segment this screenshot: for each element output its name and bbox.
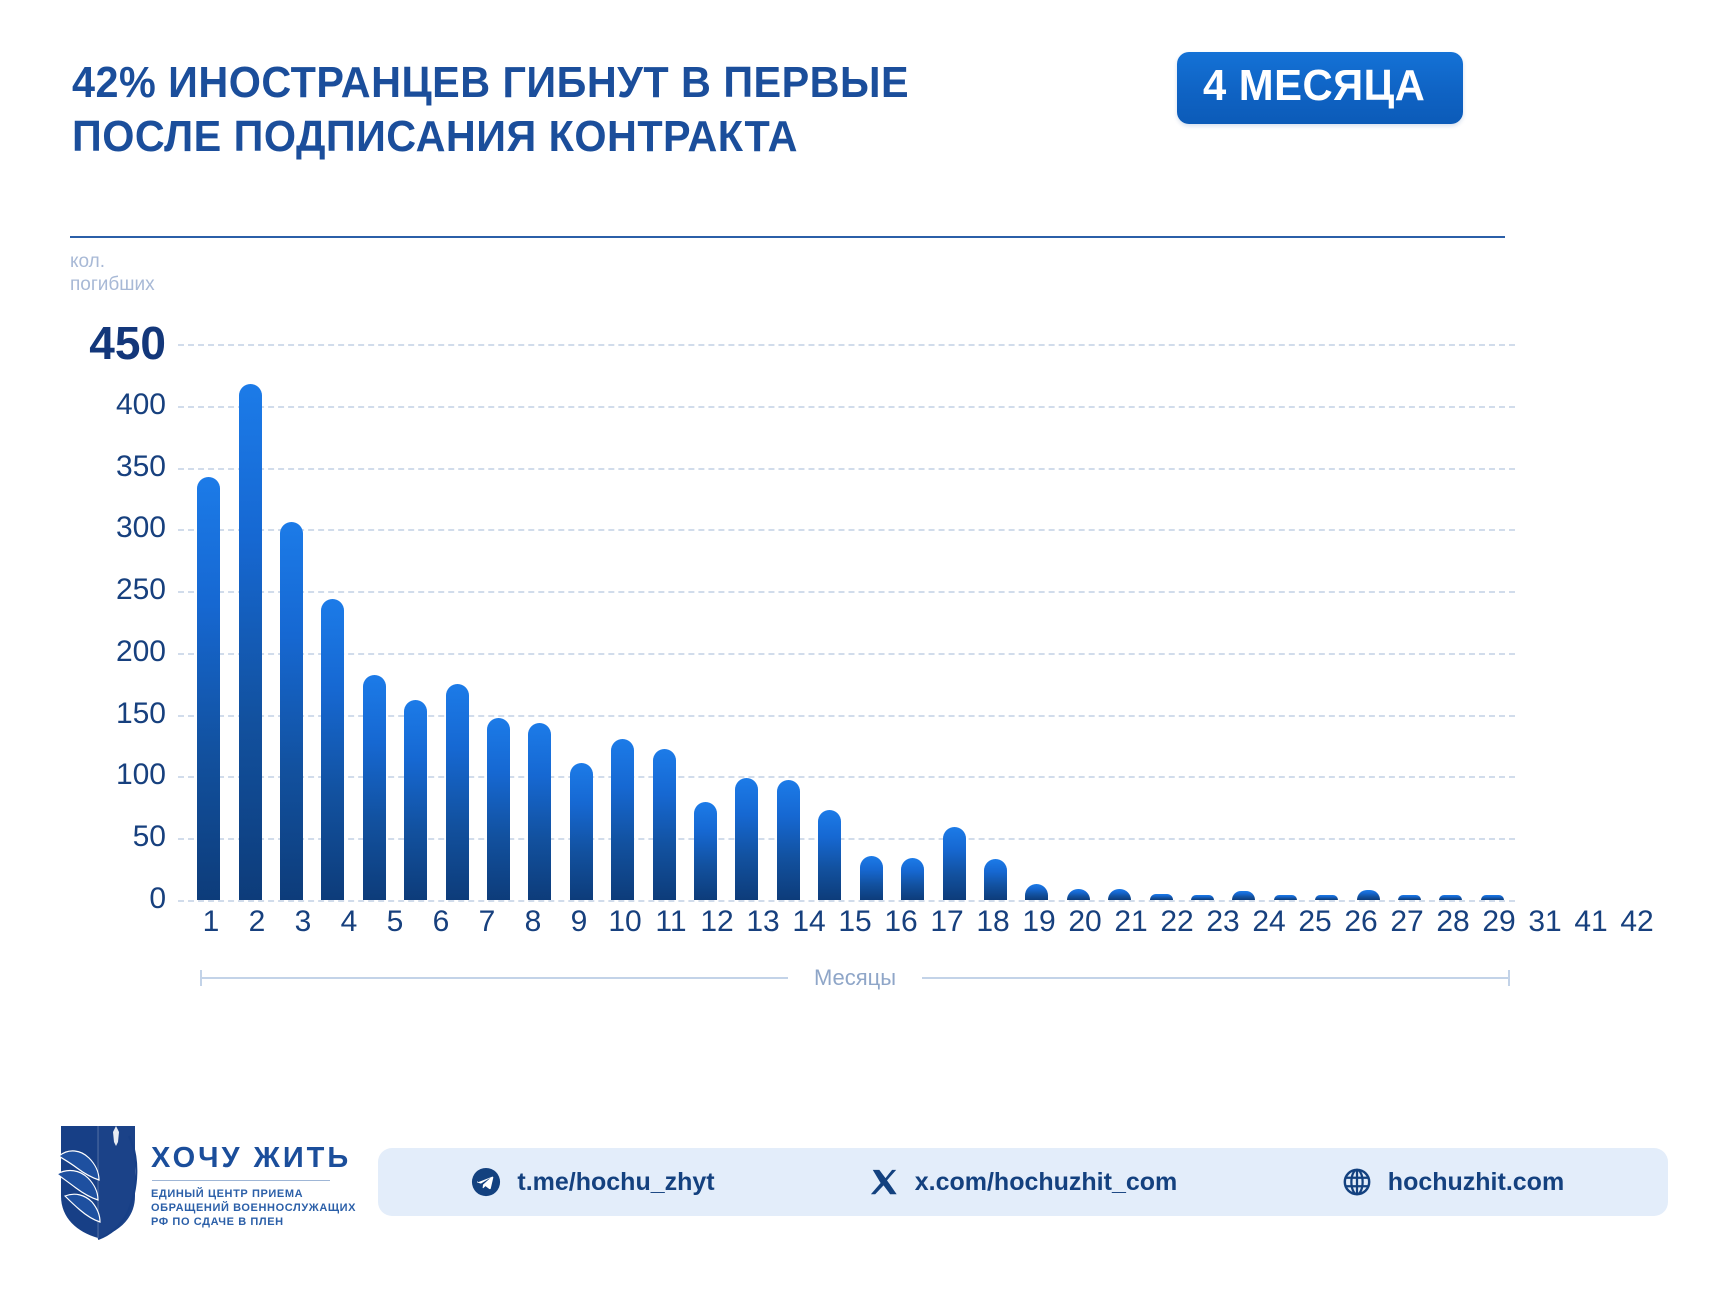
bar-slot	[312, 344, 353, 900]
bar-slot	[602, 344, 643, 900]
x-axis-label-41: 41	[1568, 905, 1614, 939]
bar-month-13	[694, 802, 717, 900]
contact-label: t.me/hochu_zhyt	[517, 1168, 714, 1197]
x-axis-label-5: 5	[372, 905, 418, 939]
x-axis-label-8: 8	[510, 905, 556, 939]
chart-bars	[188, 344, 1513, 900]
bracket-line-right	[922, 977, 1510, 979]
x-axis-label-19: 19	[1016, 905, 1062, 939]
bar-slot	[1430, 344, 1471, 900]
x-axis-label-4: 4	[326, 905, 372, 939]
bar-slot	[643, 344, 684, 900]
bar-slot	[1472, 344, 1513, 900]
contact-item-telegram[interactable]: t.me/hochu_zhyt	[378, 1167, 808, 1197]
bar-month-9	[528, 723, 551, 900]
x-axis-caption: Месяцы	[200, 958, 1510, 998]
x-axis-label-9: 9	[556, 905, 602, 939]
bar-month-27	[1274, 895, 1297, 900]
brand-subtitle-line-1: ЕДИНЫЙ ЦЕНТР ПРИЕМА	[151, 1187, 356, 1201]
x-axis-label-18: 18	[970, 905, 1016, 939]
bar-month-42	[1481, 895, 1504, 900]
bar-month-20	[984, 859, 1007, 900]
bar-slot	[354, 344, 395, 900]
bar-month-1	[197, 477, 220, 900]
x-icon	[869, 1167, 899, 1197]
bar-slot	[1389, 344, 1430, 900]
globe-icon	[1342, 1167, 1372, 1197]
y-axis-tick-250: 250	[70, 573, 166, 607]
bar-slot	[726, 344, 767, 900]
bar-slot	[1306, 344, 1347, 900]
dove-shield-icon	[55, 1122, 141, 1240]
x-axis-label-28: 28	[1430, 905, 1476, 939]
contact-label: x.com/hochuzhit_com	[915, 1168, 1178, 1197]
bar-month-14	[735, 778, 758, 900]
contact-item-x[interactable]: x.com/hochuzhit_com	[808, 1167, 1238, 1197]
y-axis-caption-line-2: погибших	[70, 273, 155, 296]
header: 42% ИНОСТРАНЦЕВ ГИБНУТ В ПЕРВЫЕ ПОСЛЕ ПО…	[72, 56, 1672, 186]
bar-month-16	[818, 810, 841, 900]
brand-logo-text: ХОЧУ ЖИТЬ ЕДИНЫЙ ЦЕНТР ПРИЕМА ОБРАЩЕНИЙ …	[151, 1142, 356, 1229]
bar-slot	[1265, 344, 1306, 900]
y-axis-tick-150: 150	[70, 697, 166, 731]
brand-divider	[152, 1180, 330, 1181]
bar-month-29	[1357, 890, 1380, 900]
bar-month-31	[1398, 895, 1421, 900]
contact-bar: t.me/hochu_zhytx.com/hochuzhit_comhochuz…	[378, 1148, 1668, 1216]
x-axis-label-31: 31	[1522, 905, 1568, 939]
x-axis-label-11: 11	[648, 905, 694, 939]
bar-slot	[1058, 344, 1099, 900]
x-axis-label-1: 1	[188, 905, 234, 939]
x-axis-label-21: 21	[1108, 905, 1154, 939]
bar-slot	[478, 344, 519, 900]
bar-slot	[395, 344, 436, 900]
x-axis-label-26: 26	[1338, 905, 1384, 939]
bar-slot	[1140, 344, 1181, 900]
brand-subtitle-line-3: РФ ПО СДАЧЕ В ПЛЕН	[151, 1215, 356, 1229]
y-axis-tick-200: 200	[70, 635, 166, 669]
bar-slot	[1016, 344, 1057, 900]
x-axis-label-27: 27	[1384, 905, 1430, 939]
y-axis-caption-line-1: кол.	[70, 250, 155, 273]
y-axis-tick-350: 350	[70, 450, 166, 484]
x-axis-label-16: 16	[878, 905, 924, 939]
y-axis-tick-400: 400	[70, 388, 166, 422]
bar-month-2	[239, 384, 262, 900]
x-axis-label-20: 20	[1062, 905, 1108, 939]
x-axis-label-13: 13	[740, 905, 786, 939]
brand-logo: ХОЧУ ЖИТЬ ЕДИНЫЙ ЦЕНТР ПРИЕМА ОБРАЩЕНИЙ …	[55, 1122, 355, 1242]
y-axis-caption: кол. погибших	[70, 250, 155, 296]
y-axis-tick-50: 50	[70, 820, 166, 854]
bar-month-18	[901, 858, 924, 900]
x-axis-labels: 1234567891011121314151617181920212223242…	[188, 905, 1660, 939]
x-axis-label-29: 29	[1476, 905, 1522, 939]
contact-label: hochuzhit.com	[1388, 1168, 1564, 1197]
bar-slot	[561, 344, 602, 900]
bar-month-24	[1150, 894, 1173, 900]
bar-slot	[436, 344, 477, 900]
bar-month-19	[943, 827, 966, 900]
x-axis-label-17: 17	[924, 905, 970, 939]
bar-month-25	[1191, 895, 1214, 900]
x-axis-label-3: 3	[280, 905, 326, 939]
bar-month-4	[321, 599, 344, 900]
bar-slot	[892, 344, 933, 900]
bar-month-17	[860, 856, 883, 900]
bar-slot	[229, 344, 270, 900]
bar-slot	[975, 344, 1016, 900]
contact-item-globe[interactable]: hochuzhit.com	[1238, 1167, 1668, 1197]
x-axis-label-22: 22	[1154, 905, 1200, 939]
bar-month-21	[1025, 884, 1048, 900]
bar-month-26	[1232, 891, 1255, 900]
x-axis-label-12: 12	[694, 905, 740, 939]
bar-slot	[933, 344, 974, 900]
bar-month-7	[446, 684, 469, 900]
bar-slot	[271, 344, 312, 900]
bar-chart: 050100150200250300350400450	[70, 300, 1515, 900]
x-axis-label-6: 6	[418, 905, 464, 939]
bar-month-5	[363, 675, 386, 900]
bar-slot	[1182, 344, 1223, 900]
brand-subtitle-line-2: ОБРАЩЕНИЙ ВОЕННОСЛУЖАЩИХ	[151, 1201, 356, 1215]
bar-month-8	[487, 718, 510, 900]
y-axis-tick-300: 300	[70, 511, 166, 545]
x-axis-label-2: 2	[234, 905, 280, 939]
bar-slot	[851, 344, 892, 900]
bar-slot	[1347, 344, 1388, 900]
bar-month-23	[1108, 889, 1131, 900]
x-axis-label-25: 25	[1292, 905, 1338, 939]
y-axis-tick-100: 100	[70, 758, 166, 792]
bar-month-15	[777, 780, 800, 900]
x-axis-label-23: 23	[1200, 905, 1246, 939]
y-axis-tick-450: 450	[70, 316, 166, 370]
x-axis-label-7: 7	[464, 905, 510, 939]
bar-month-3	[280, 522, 303, 900]
highlight-badge-label: 4 МЕСЯЦА	[1203, 61, 1425, 111]
bar-slot	[1099, 344, 1140, 900]
bar-month-10	[570, 763, 593, 900]
gridline	[178, 900, 1515, 902]
y-axis-tick-0: 0	[70, 882, 166, 916]
x-axis-label-24: 24	[1246, 905, 1292, 939]
bar-month-22	[1067, 889, 1090, 900]
x-axis-label-10: 10	[602, 905, 648, 939]
bar-slot	[519, 344, 560, 900]
bar-slot	[809, 344, 850, 900]
header-divider	[70, 236, 1505, 238]
bar-slot	[188, 344, 229, 900]
telegram-icon	[471, 1167, 501, 1197]
x-axis-label-42: 42	[1614, 905, 1660, 939]
bar-slot	[685, 344, 726, 900]
bar-month-28	[1315, 895, 1338, 900]
bar-month-11	[611, 739, 634, 900]
x-axis-label-15: 15	[832, 905, 878, 939]
bar-month-6	[404, 700, 427, 900]
x-axis-caption-label: Месяцы	[788, 965, 922, 991]
brand-name: ХОЧУ ЖИТЬ	[151, 1142, 356, 1175]
bar-slot	[768, 344, 809, 900]
bar-month-41	[1439, 895, 1462, 900]
highlight-badge: 4 МЕСЯЦА	[1177, 52, 1463, 124]
x-axis-label-14: 14	[786, 905, 832, 939]
bar-month-12	[653, 749, 676, 900]
bracket-line-left	[200, 977, 788, 979]
bar-slot	[1223, 344, 1264, 900]
